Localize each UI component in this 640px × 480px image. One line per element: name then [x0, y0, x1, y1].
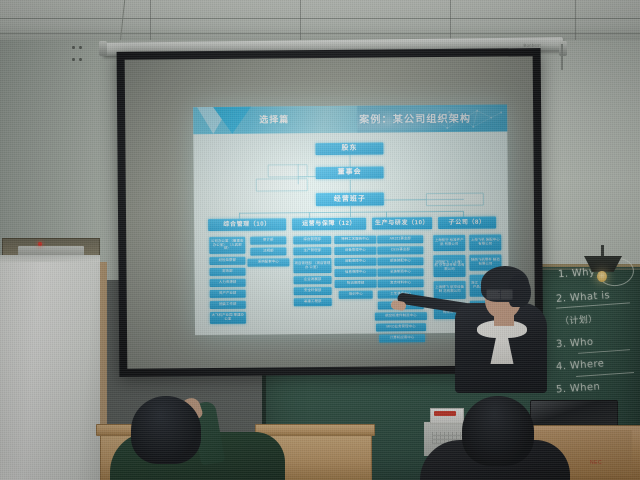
- org-leaf: 人力资源部: [210, 279, 246, 287]
- slide-section-label: 选择篇: [259, 112, 289, 125]
- power-cord: [561, 44, 563, 70]
- slide-title: 案例：某公司组织架构: [359, 110, 471, 126]
- glasses-icon: [486, 289, 501, 300]
- header-triangle-icon: [213, 107, 251, 134]
- status-led-icon: [38, 242, 42, 246]
- org-dept-header-3: 生产与研发（10）: [372, 217, 432, 230]
- ceiling: [0, 0, 640, 42]
- ghost-node-3: [426, 193, 484, 207]
- org-leaf: 物流保障部: [335, 280, 377, 288]
- org-leaf: C919事业部: [377, 246, 423, 254]
- org-leaf: 上海搏飞 航空设备制 造有限公司: [434, 281, 466, 299]
- student-right-head: [462, 396, 534, 466]
- org-leaf: 计算机应用中心: [379, 334, 425, 342]
- org-leaf: 航空标准件制造中心: [375, 312, 427, 320]
- wall-bracket: [72, 46, 82, 64]
- org-leaf: 生产管理部: [293, 247, 331, 255]
- org-leaf: 总装制造中心: [377, 268, 423, 276]
- org-leaf: 团委工作部: [210, 301, 246, 309]
- org-leaf: 综合管理部: [293, 236, 331, 244]
- org-leaf: 财务部: [209, 268, 245, 276]
- org-leaf: 采购配套中心: [247, 258, 289, 266]
- roller-brand-label: Bonbest: [523, 42, 541, 47]
- org-leaf: 上海飞机 装配中心 有限公司: [469, 235, 501, 251]
- org-leaf: 纪检监察部: [209, 257, 245, 265]
- org-dept-header-4: 子公司（8）: [438, 217, 496, 230]
- org-leaf: 法规部: [250, 247, 286, 255]
- slide-header-band: 选择篇 案例：某公司组织架构: [193, 104, 507, 134]
- podium-brand-label: NEC: [590, 460, 602, 466]
- org-leaf: MRO业务管理中心: [376, 323, 426, 331]
- org-node-management: 经营班子: [316, 193, 384, 207]
- desk-center-top: [255, 424, 375, 436]
- org-node-shareholders: 股东: [315, 143, 383, 156]
- ghost-node-1: [268, 164, 308, 177]
- org-leaf: 安全环保部: [294, 287, 332, 295]
- lamp-bulb-icon: [597, 271, 607, 282]
- red-marker-icon: [434, 411, 456, 416]
- org-leaf: 公司办公室 （董事会办公室） （人武部部）: [209, 237, 245, 254]
- org-leaf: 上海航空 标准件产品 有限公司: [433, 235, 465, 251]
- org-leaf: 复合材料中心: [378, 279, 424, 287]
- org-leaf: 后勤保障中心: [334, 258, 376, 266]
- roller-cap-left: [99, 41, 107, 56]
- air-conditioner-cabinet: Midea: [0, 262, 107, 480]
- org-leaf: 基建工程部: [294, 298, 332, 306]
- org-leaf: 审计部: [250, 236, 286, 244]
- org-leaf: 企业发展部: [294, 276, 332, 284]
- glasses-lens-right: [500, 289, 513, 300]
- projected-slide: 选择篇 案例：某公司组织架构 股东: [193, 104, 509, 335]
- org-leaf: 培训中心: [339, 291, 373, 299]
- org-leaf: 特种工艺服务中心: [334, 236, 376, 244]
- org-dept-header-2: 运营与保障（12）: [292, 218, 366, 231]
- org-leaf: 大飞机产业园 筹建办公室: [210, 312, 246, 324]
- chalk-annotation: （计划）: [560, 312, 598, 328]
- ghost-node-2: [256, 178, 308, 191]
- org-leaf: ARJ21事业部: [377, 235, 423, 243]
- org-leaf: 项目管理部 （项目管理办 公室）: [293, 258, 331, 273]
- ceiling-cord: [120, 0, 125, 42]
- org-leaf: 部装装配中心: [377, 257, 423, 265]
- org-leaf: 信息保障中心: [334, 269, 376, 277]
- org-leaf: 沈阳航飞 （上海）航 空零部件制 造有限公司: [433, 255, 465, 277]
- classroom-scene: Bonbest 1. Why 2. What is （计划） 3. Who 4.…: [0, 0, 640, 480]
- org-dept-header-1: 综合管理（10）: [208, 218, 286, 231]
- org-leaf: 设备管理中心: [334, 247, 376, 255]
- org-leaf: 资产产业部: [210, 290, 246, 298]
- glasses-bridge: [498, 292, 501, 293]
- org-node-board: 董事会: [316, 167, 384, 180]
- student-left-head: [131, 396, 201, 464]
